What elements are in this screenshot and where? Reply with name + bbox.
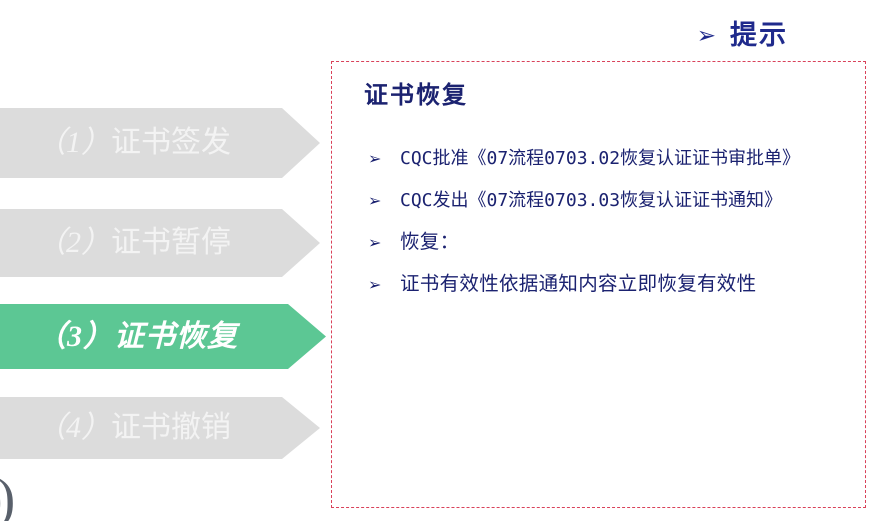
- process-step-4-text: 证书撤销: [111, 411, 231, 444]
- process-step-3-active[interactable]: （3）证书恢复: [0, 304, 326, 369]
- process-step-2-text: 证书暂停: [111, 226, 231, 259]
- process-step-3-label: （3）证书恢复: [0, 322, 238, 352]
- arrow-bullet-icon: ➢: [368, 264, 400, 305]
- arrow-bullet-icon: ➢: [697, 25, 716, 48]
- tip-bullet-item-4: ➢ 证书有效性依据通知内容立即恢复有效性: [368, 264, 848, 305]
- process-step-list: （1）证书签发 （2）证书暂停 （3）证书恢复 （4）证书撤销 )): [0, 0, 340, 521]
- process-step-3-number: （3）: [36, 320, 114, 353]
- process-step-4-number: （4）: [36, 411, 111, 444]
- process-step-4-label: （4）证书撤销: [0, 413, 231, 443]
- process-step-2-label: （2）证书暂停: [0, 228, 231, 258]
- tip-bullet-item-2: ➢ CQC发出《07流程0703.03恢复认证证书通知》: [368, 180, 848, 221]
- process-step-1-number: （1）: [36, 126, 111, 159]
- process-step-2-number: （2）: [36, 226, 111, 259]
- tip-bullet-item-1: ➢ CQC批准《07流程0703.02恢复认证证书审批单》: [368, 138, 848, 179]
- arrow-bullet-icon: ➢: [368, 180, 400, 221]
- arrow-bullet-icon: ➢: [368, 222, 400, 263]
- tip-title: ➢ 提示: [697, 22, 788, 49]
- process-step-2[interactable]: （2）证书暂停: [0, 209, 320, 277]
- tip-title-text: 提示: [730, 22, 788, 49]
- tip-box-heading: 证书恢复: [364, 84, 468, 108]
- slide-canvas: （1）证书签发 （2）证书暂停 （3）证书恢复 （4）证书撤销 )) ➢ 提示: [0, 0, 873, 521]
- tip-bullet-text-1: CQC批准《07流程0703.02恢复认证证书审批单》: [400, 138, 848, 179]
- tip-bullet-list: ➢ CQC批准《07流程0703.02恢复认证证书审批单》 ➢ CQC发出《07…: [368, 138, 848, 306]
- tip-bullet-text-4: 证书有效性依据通知内容立即恢复有效性: [400, 264, 848, 305]
- process-step-1-label: （1）证书签发: [0, 128, 231, 158]
- tip-content-box: 证书恢复 ➢ CQC批准《07流程0703.02恢复认证证书审批单》 ➢ CQC…: [331, 61, 866, 508]
- tip-bullet-item-3: ➢ 恢复：: [368, 222, 848, 263]
- process-step-4[interactable]: （4）证书撤销: [0, 397, 320, 459]
- process-step-3-text: 证书恢复: [114, 320, 238, 353]
- tip-bullet-text-2: CQC发出《07流程0703.03恢复认证证书通知》: [400, 180, 848, 221]
- tip-bullet-text-3: 恢复：: [400, 222, 848, 263]
- process-step-1-text: 证书签发: [111, 126, 231, 159]
- arrow-bullet-icon: ➢: [368, 138, 400, 179]
- process-step-1[interactable]: （1）证书签发: [0, 108, 320, 178]
- corner-decoration-glyph: )): [0, 471, 44, 521]
